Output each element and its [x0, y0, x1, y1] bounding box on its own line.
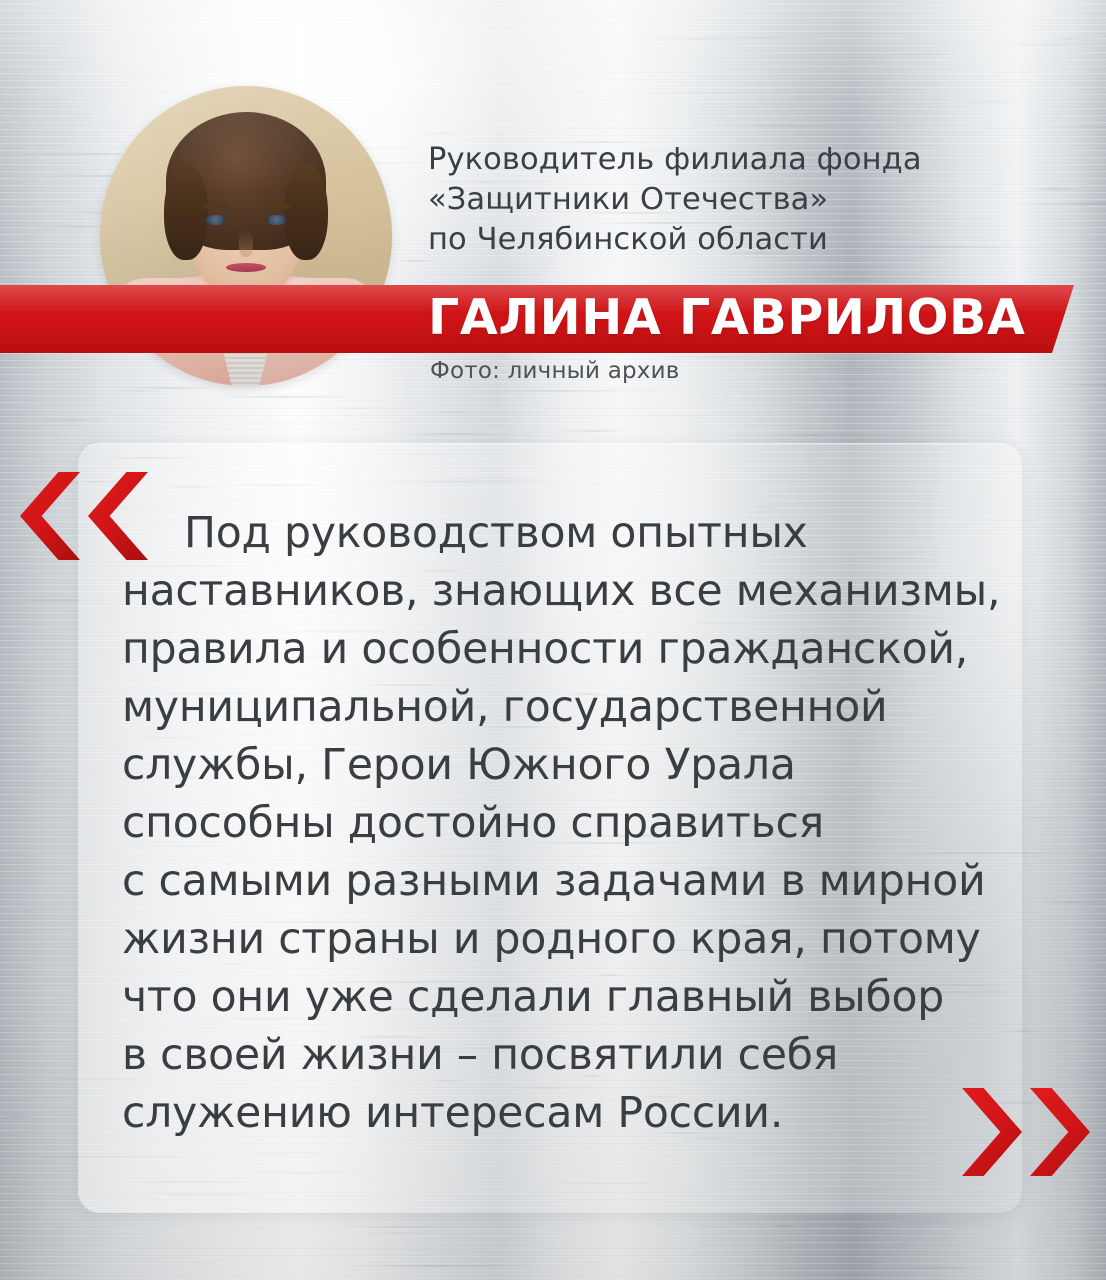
quote-body: Под руководством опытныхнаставников, зна…	[122, 505, 1022, 1143]
chevron-right-icon	[1030, 1088, 1090, 1176]
quote-line: службы, Герои Южного Урала	[122, 737, 1022, 795]
poster-canvas: Руководитель филиала фонда «Защитники От…	[0, 0, 1106, 1280]
chevron-left-icon	[20, 472, 80, 560]
quote-line: наставников, знающих все механизмы,	[122, 563, 1022, 621]
quote-line: что они уже сделали главный выбор	[122, 969, 1022, 1027]
quote-close-mark	[962, 1088, 1090, 1176]
quote-line: служению интересам России.	[122, 1085, 1022, 1143]
chevron-right-icon	[962, 1088, 1022, 1176]
quote-line: в своей жизни – посвятили себя	[122, 1027, 1022, 1085]
photo-credit: Фото: личный архив	[430, 358, 680, 384]
subject-title-line-1: Руководитель филиала фонда	[428, 140, 1078, 180]
quote-line: правила и особенности гражданской,	[122, 621, 1022, 679]
quote-line: с самыми разными задачами в мирной	[122, 853, 1022, 911]
quote-line: Под руководством опытных	[122, 505, 1022, 563]
quote-line: способны достойно справиться	[122, 795, 1022, 853]
subject-title-line-3: по Челябинской области	[428, 220, 1078, 260]
subject-name: ГАЛИНА ГАВРИЛОВА	[428, 283, 1025, 351]
quote-line: муниципальной, государственной	[122, 679, 1022, 737]
quote-line: жизни страны и родного края, потому	[122, 911, 1022, 969]
subject-title-line-2: «Защитники Отечества»	[428, 180, 1078, 220]
subject-title: Руководитель филиала фонда «Защитники От…	[428, 140, 1078, 260]
